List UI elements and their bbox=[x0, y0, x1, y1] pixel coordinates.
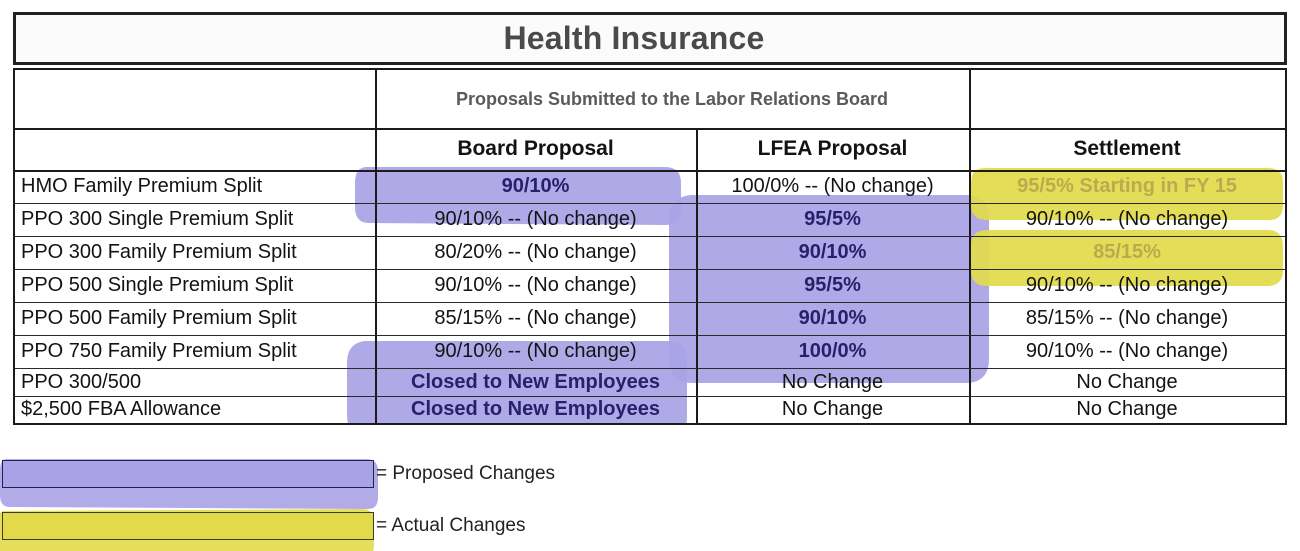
group-header-proposals: Proposals Submitted to the Labor Relatio… bbox=[375, 70, 969, 128]
row-label: PPO 500 Family Premium Split bbox=[21, 307, 297, 330]
cell-lfea-value: 95/5% bbox=[804, 274, 861, 297]
row-label: PPO 750 Family Premium Split bbox=[21, 340, 297, 363]
table-row: PPO 500 Single Premium Split bbox=[15, 269, 375, 302]
legend-label-proposed: = Proposed Changes bbox=[376, 463, 555, 485]
cell-settlement-value: No Change bbox=[1076, 371, 1177, 394]
legend-swatch-purple bbox=[2, 460, 374, 488]
scanned-document-page: Health Insurance bbox=[0, 0, 1300, 551]
cell-lfea: No Change bbox=[696, 368, 969, 396]
table-row: PPO 300/500 bbox=[15, 368, 375, 396]
table-row: PPO 500 Family Premium Split bbox=[15, 302, 375, 335]
table-row: $2,500 FBA Allowance bbox=[15, 396, 375, 423]
group-header-label: Proposals Submitted to the Labor Relatio… bbox=[456, 89, 888, 110]
cell-board: Closed to New Employees bbox=[375, 368, 696, 396]
cell-board-value: 90/10% -- (No change) bbox=[434, 340, 636, 363]
row-label: HMO Family Premium Split bbox=[21, 175, 262, 198]
cell-settlement: No Change bbox=[969, 368, 1285, 396]
cell-lfea: No Change bbox=[696, 396, 969, 423]
row-label: PPO 300/500 bbox=[21, 371, 141, 394]
table-row: PPO 750 Family Premium Split bbox=[15, 335, 375, 368]
legend: = Proposed Changes = Actual Changes bbox=[0, 440, 1300, 551]
cell-board-value: 90/10% bbox=[502, 175, 570, 198]
cell-settlement: 85/15% bbox=[969, 236, 1285, 269]
column-header-lfea-proposal: LFEA Proposal bbox=[696, 128, 969, 170]
cell-lfea: 95/5% bbox=[696, 269, 969, 302]
cell-settlement: 95/5% Starting in FY 15 bbox=[969, 170, 1285, 203]
cell-lfea-value: 100/0% bbox=[799, 340, 867, 363]
cell-settlement: 90/10% -- (No change) bbox=[969, 269, 1285, 302]
cell-board: 90/10% -- (No change) bbox=[375, 335, 696, 368]
cell-settlement-value: 95/5% Starting in FY 15 bbox=[1017, 175, 1237, 198]
cell-settlement-value: 90/10% -- (No change) bbox=[1026, 208, 1228, 231]
row-label: $2,500 FBA Allowance bbox=[21, 398, 221, 421]
cell-lfea: 100/0% bbox=[696, 335, 969, 368]
cell-board-value: 85/15% -- (No change) bbox=[434, 307, 636, 330]
row-label: PPO 500 Single Premium Split bbox=[21, 274, 293, 297]
cell-lfea-value: 100/0% -- (No change) bbox=[731, 175, 933, 198]
cell-lfea-value: 95/5% bbox=[804, 208, 861, 231]
cell-board-value: 90/10% -- (No change) bbox=[434, 208, 636, 231]
cell-settlement-value: 85/15% -- (No change) bbox=[1026, 307, 1228, 330]
cell-lfea-value: No Change bbox=[782, 371, 883, 394]
column-header-lfea-proposal-label: LFEA Proposal bbox=[758, 137, 908, 161]
legend-item-proposed: = Proposed Changes bbox=[2, 460, 555, 488]
health-insurance-table: Proposals Submitted to the Labor Relatio… bbox=[13, 68, 1287, 425]
column-header-settlement: Settlement bbox=[969, 128, 1285, 170]
table-row: HMO Family Premium Split bbox=[15, 170, 375, 203]
cell-settlement: 90/10% -- (No change) bbox=[969, 335, 1285, 368]
cell-lfea: 95/5% bbox=[696, 203, 969, 236]
cell-lfea: 100/0% -- (No change) bbox=[696, 170, 969, 203]
cell-lfea: 90/10% bbox=[696, 302, 969, 335]
cell-board-value: 90/10% -- (No change) bbox=[434, 274, 636, 297]
cell-board-value: 80/20% -- (No change) bbox=[434, 241, 636, 264]
column-header-board-proposal-label: Board Proposal bbox=[457, 137, 613, 161]
cell-board: Closed to New Employees bbox=[375, 396, 696, 423]
legend-label-actual: = Actual Changes bbox=[376, 515, 525, 537]
cell-settlement: 85/15% -- (No change) bbox=[969, 302, 1285, 335]
column-header-settlement-label: Settlement bbox=[1073, 137, 1180, 161]
cell-lfea: 90/10% bbox=[696, 236, 969, 269]
cell-settlement: No Change bbox=[969, 396, 1285, 423]
legend-item-actual: = Actual Changes bbox=[2, 512, 525, 540]
legend-swatch-yellow bbox=[2, 512, 374, 540]
table-row: PPO 300 Family Premium Split bbox=[15, 236, 375, 269]
cell-board: 90/10% bbox=[375, 170, 696, 203]
row-label: PPO 300 Family Premium Split bbox=[21, 241, 297, 264]
column-header-board-proposal: Board Proposal bbox=[375, 128, 696, 170]
cell-board: 90/10% -- (No change) bbox=[375, 203, 696, 236]
page-title: Health Insurance bbox=[503, 20, 764, 57]
cell-settlement-value: 90/10% -- (No change) bbox=[1026, 274, 1228, 297]
cell-lfea-value: No Change bbox=[782, 398, 883, 421]
cell-board-value: Closed to New Employees bbox=[411, 398, 660, 421]
cell-board: 80/20% -- (No change) bbox=[375, 236, 696, 269]
cell-board-value: Closed to New Employees bbox=[411, 371, 660, 394]
cell-board: 90/10% -- (No change) bbox=[375, 269, 696, 302]
cell-lfea-value: 90/10% bbox=[799, 307, 867, 330]
cell-settlement-value: 85/15% bbox=[1093, 241, 1161, 264]
cell-settlement: 90/10% -- (No change) bbox=[969, 203, 1285, 236]
document-title-bar: Health Insurance bbox=[13, 12, 1287, 65]
table-row: PPO 300 Single Premium Split bbox=[15, 203, 375, 236]
row-label: PPO 300 Single Premium Split bbox=[21, 208, 293, 231]
cell-lfea-value: 90/10% bbox=[799, 241, 867, 264]
cell-board: 85/15% -- (No change) bbox=[375, 302, 696, 335]
cell-settlement-value: 90/10% -- (No change) bbox=[1026, 340, 1228, 363]
cell-settlement-value: No Change bbox=[1076, 398, 1177, 421]
